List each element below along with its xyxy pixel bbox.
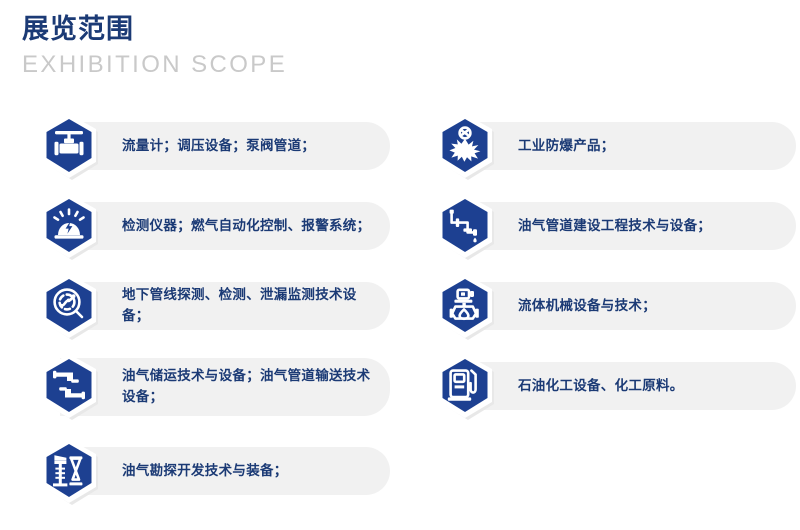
scope-item-pill: 检测仪器；燃气自动化控制、报警系统； (60, 202, 390, 250)
scope-item-pill: 地下管线探测、检测、泄漏监测技术设备； (60, 282, 390, 330)
drilling-rig-icon (36, 437, 104, 511)
list-item[interactable]: 检测仪器；燃气自动化控制、报警系统； (18, 190, 404, 270)
scope-item-label: 流体机械设备与技术； (518, 296, 656, 317)
scope-column-left: 流量计；调压设备；泵阀管道； (0, 110, 404, 520)
page-subtitle: EXHIBITION SCOPE (22, 49, 287, 80)
list-item[interactable]: 油气储运技术与设备；油气管道输送技术设备； (18, 350, 404, 435)
valve-pipe-icon (36, 112, 104, 186)
list-item[interactable]: 油气勘探开发技术与装备； (18, 435, 404, 520)
list-item[interactable]: 地下管线探测、检测、泄漏监测技术设备； (18, 270, 404, 350)
fuel-dispenser-icon (432, 352, 500, 426)
scope-item-label: 油气勘探开发技术与装备； (122, 461, 288, 482)
page-title: 展览范围 (22, 14, 287, 45)
explosion-proof-icon (432, 112, 500, 186)
scope-item-pill: 油气勘探开发技术与装备； (60, 447, 390, 495)
scope-columns: 流量计；调压设备；泵阀管道； (0, 110, 800, 520)
scope-item-pill: 石油化工设备、化工原料。 (456, 362, 796, 410)
list-item[interactable]: 工业防爆产品； (414, 110, 800, 190)
page-header: 展览范围 EXHIBITION SCOPE (22, 14, 287, 80)
list-item[interactable]: 石油化工设备、化工原料。 (414, 350, 800, 435)
scope-item-pill: 流量计；调压设备；泵阀管道； (60, 122, 390, 170)
list-item[interactable]: 流量计；调压设备；泵阀管道； (18, 110, 404, 190)
list-item[interactable]: 油气管道建设工程技术与设备； (414, 190, 800, 270)
scope-item-pill: 油气管道建设工程技术与设备； (456, 202, 796, 250)
scope-item-label: 油气管道建设工程技术与设备； (518, 216, 711, 237)
scope-item-label: 工业防爆产品； (518, 136, 615, 157)
scope-item-label: 流量计；调压设备；泵阀管道； (122, 136, 315, 157)
scope-item-label: 石油化工设备、化工原料。 (518, 376, 684, 397)
scope-item-label: 检测仪器；燃气自动化控制、报警系统； (122, 216, 370, 237)
scope-item-pill: 油气储运技术与设备；油气管道输送技术设备； (60, 358, 390, 416)
alarm-siren-icon (36, 192, 104, 266)
fluid-pump-icon (432, 272, 500, 346)
scope-item-pill: 流体机械设备与技术； (456, 282, 796, 330)
scope-item-label: 地下管线探测、检测、泄漏监测技术设备； (122, 285, 376, 327)
list-item[interactable]: 流体机械设备与技术； (414, 270, 800, 350)
offset-pipeline-icon (36, 352, 104, 426)
scope-item-pill: 工业防爆产品； (456, 122, 796, 170)
scope-item-label: 油气储运技术与设备；油气管道输送技术设备； (122, 366, 376, 408)
magnifier-detection-icon (36, 272, 104, 346)
scope-column-right: 工业防爆产品； 油气管道建设工程技术与设备； (404, 110, 800, 520)
pipe-faucet-icon (432, 192, 500, 266)
